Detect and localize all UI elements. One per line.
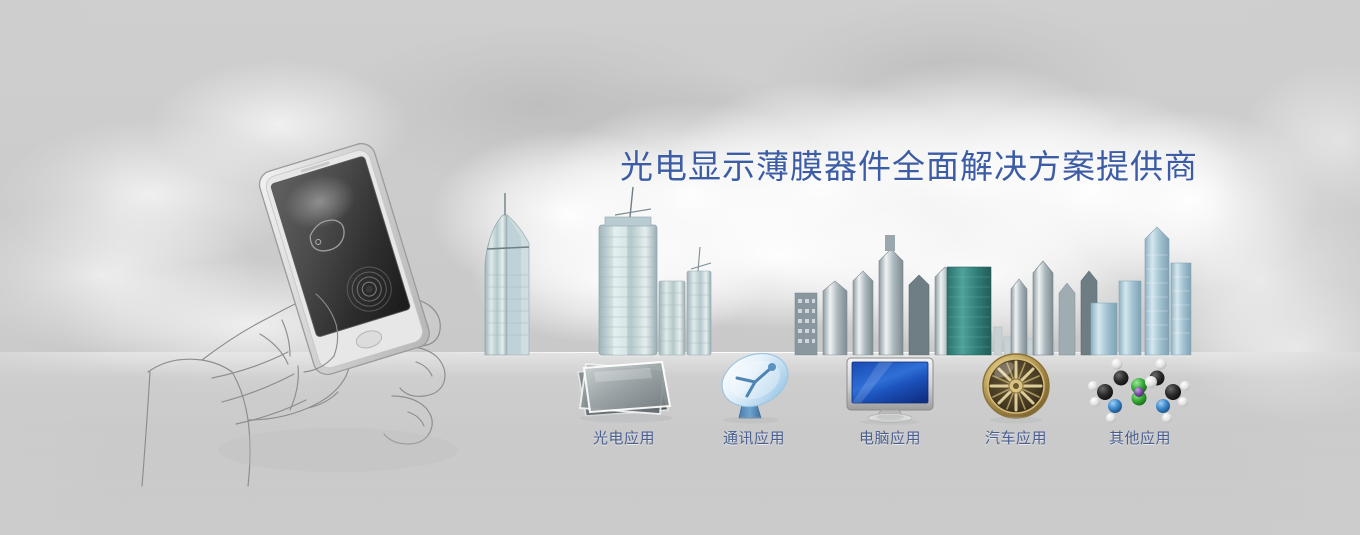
application-label: 电脑应用 [826,430,954,448]
computer-monitor-icon [826,352,954,424]
banner-headline: 光电显示薄膜器件全面解决方案提供商 [620,140,1198,188]
hand-holding-smartphone-illustration [140,120,470,490]
application-item-automotive[interactable]: 汽车应用 [952,352,1080,448]
hero-banner: 光电应用 [0,0,1360,535]
application-label: 汽车应用 [952,430,1080,448]
satellite-dish-icon [690,352,818,424]
application-item-communication[interactable]: 通讯应用 [690,352,818,448]
alloy-car-wheel-icon [952,352,1080,424]
application-item-other[interactable]: 其他应用 [1076,352,1204,448]
molecule-model-icon [1076,352,1204,424]
application-label: 通讯应用 [690,430,818,448]
application-label: 光电应用 [560,430,688,448]
stacked-glass-panels-icon [560,352,688,424]
application-label: 其他应用 [1076,430,1204,448]
city-skyline-illustration [455,185,1195,357]
application-item-computer[interactable]: 电脑应用 [826,352,954,448]
application-icon-row: 光电应用 [560,352,1200,462]
application-item-optoelectronic[interactable]: 光电应用 [560,352,688,448]
